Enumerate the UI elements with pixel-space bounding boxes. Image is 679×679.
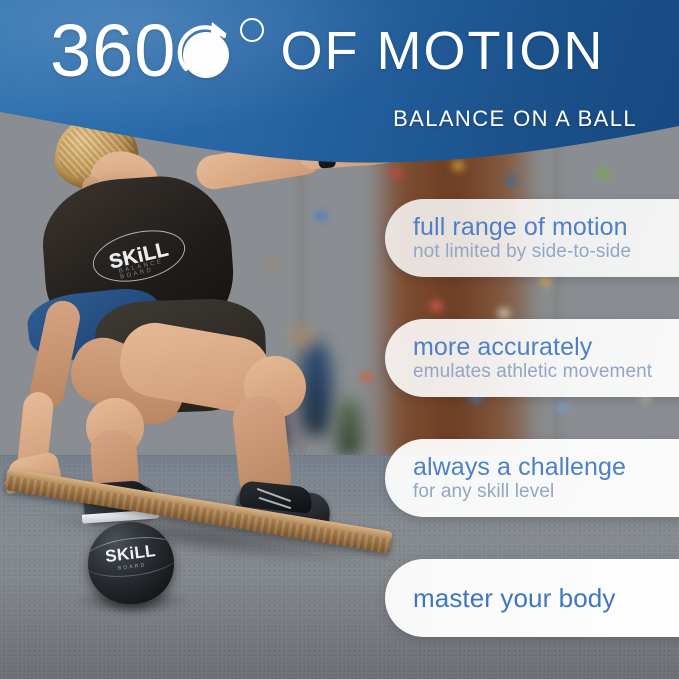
- rotating-ball-icon: [174, 14, 236, 88]
- feature-card-subtitle: not limited by side-to-side: [413, 241, 679, 262]
- feature-card-subtitle: for any skill level: [413, 481, 679, 502]
- feature-card[interactable]: more accurately emulates athletic moveme…: [385, 319, 679, 397]
- product-marketing-poster: SKiLL BALANCE BOARD: [0, 0, 679, 679]
- feature-card-list: full range of motion not limited by side…: [385, 0, 679, 679]
- feature-card-title: full range of motion: [413, 214, 679, 241]
- feature-card[interactable]: master your body: [385, 559, 679, 637]
- feature-card[interactable]: always a challenge for any skill level: [385, 439, 679, 517]
- feature-card-subtitle: emulates athletic movement: [413, 361, 679, 382]
- feature-card[interactable]: full range of motion not limited by side…: [385, 199, 679, 277]
- headline-number: 360: [50, 14, 176, 88]
- feature-card-title: master your body: [413, 584, 679, 612]
- feature-card-title: more accurately: [413, 334, 679, 361]
- degree-symbol-icon: [240, 18, 264, 42]
- circular-arrow-icon: [174, 14, 236, 88]
- skill-board-ball: SKiLL BOARD: [88, 522, 174, 604]
- feature-card-title: always a challenge: [413, 454, 679, 481]
